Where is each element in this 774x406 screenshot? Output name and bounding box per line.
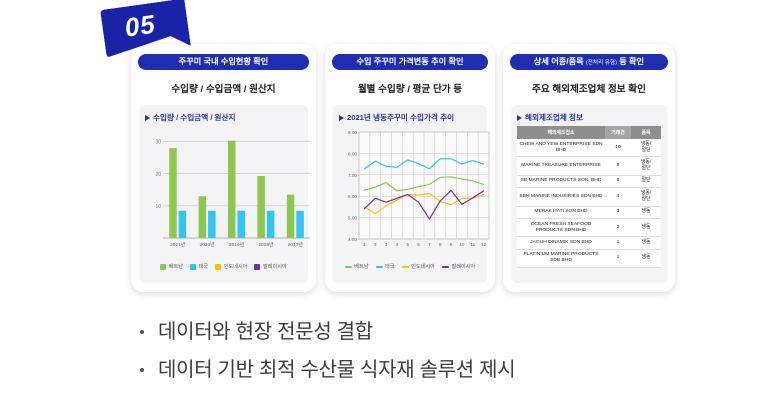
panel-b-body: 2021년 냉동주꾸미 수입가격 추이 4.005.006.007.008.00… [333, 105, 487, 283]
bullet-dot-icon [140, 330, 144, 334]
cell-manufacturer: SB MARINE PRODUCTS SON. BHD [517, 175, 605, 187]
svg-text:7: 7 [428, 242, 431, 247]
panel-manufacturers[interactable]: 상세 어종/품목 (전처리 유형) 등 확인 주요 해외제조업체 정보 확인 해… [503, 44, 675, 292]
panel-b-section-title-row: 2021년 냉동주꾸미 수입가격 추이 [339, 112, 481, 123]
svg-text:10: 10 [155, 204, 161, 210]
legend-label: 인도네시아 [224, 263, 248, 270]
panel-price-trend[interactable]: 수입 주꾸미 가격변동 추이 확인 월별 수입량 / 평균 단가 등 2021년… [325, 44, 495, 292]
cell-deal-count: 2 [605, 218, 631, 236]
svg-text:20: 20 [155, 172, 161, 178]
legend-swatch-icon [215, 264, 221, 270]
cell-item-type: 냉동 [631, 249, 661, 267]
panel-c-section-title: 해외제조업체 정보 [525, 112, 583, 123]
cell-item-type: 냉동/절단 [631, 188, 661, 206]
legend-item: 말레이시아 [442, 263, 475, 270]
cell-manufacturer: CHEW AND YEW ENTERPRISE SDN BHD [517, 139, 605, 157]
table-column-header: 해외제조업소 [517, 126, 605, 139]
panel-a-section-title-row: 수입량 / 수입금액 / 원산지 [145, 112, 302, 123]
legend-item: 인도네시아 [215, 263, 247, 270]
svg-text:5.00: 5.00 [348, 216, 357, 221]
panel-c-body: 해외제조업체 정보 해외제조업소거래건품목 CHEW AND YEW ENTER… [511, 105, 667, 283]
legend-swatch-icon [254, 264, 260, 270]
cell-deal-count: 1 [605, 237, 631, 249]
table-column-header: 품목 [631, 126, 661, 139]
bullet-item: 데이터 기반 최적 수산물 식자재 솔루션 제시 [140, 353, 515, 382]
table-row[interactable]: SB MARINE PRODUCTS SON. BHD6절단 [517, 175, 661, 187]
cell-deal-count: 3 [605, 206, 631, 218]
bullet-item: 데이터와 현장 전문성 결합 [140, 315, 515, 344]
svg-text:5: 5 [406, 242, 409, 247]
legend-label: 베트남 [354, 263, 368, 270]
cell-deal-count: 10 [605, 139, 631, 157]
svg-text:9: 9 [450, 242, 453, 247]
legend-label: 태국 [385, 263, 395, 270]
panel-c-badge-main: 상세 어종/품목 [534, 57, 584, 66]
slide-root: 05 주꾸미 국내 수입현황 확인 수입량 / 수입금액 / 원산지 수입량 /… [0, 0, 774, 406]
line-chart-price-trend: 4.005.006.007.008.009.00123456789101112 [339, 126, 493, 254]
legend-item: 인도네시아 [402, 263, 435, 270]
cell-item-type: 냉동 [631, 237, 661, 249]
table-row[interactable]: MERAK HATI SON BHD3냉동 [517, 206, 661, 218]
manufacturer-table[interactable]: 해외제조업소거래건품목 CHEW AND YEW ENTERPRISE SDN … [517, 126, 661, 268]
table-row[interactable]: MARINE TREASURE ENTERPRISE9냉동/절단 [517, 157, 661, 175]
svg-text:6: 6 [417, 242, 420, 247]
table-row[interactable]: PLATINIUM MARINE PRODUCTS SDB.BHD1냉동 [517, 249, 661, 267]
panel-c-subtitle: 주요 해외제조업체 정보 확인 [503, 70, 675, 105]
cell-manufacturer: OCEAN FRESH SEAFOOD PRODUCTS SDN.BHD [517, 218, 605, 236]
panel-b-badge: 수입 주꾸미 가격변동 추이 확인 [332, 54, 488, 70]
legend-line-icon [376, 266, 383, 268]
bar-chart-import-volume: 1020302021년2020년2019년2018년2017년 [145, 126, 314, 254]
cell-deal-count: 1 [605, 249, 631, 267]
svg-text:2017년: 2017년 [288, 241, 303, 248]
svg-text:2: 2 [374, 242, 377, 247]
panel-a-badge: 주꾸미 국내 수입현황 확인 [138, 54, 309, 70]
svg-text:2020년: 2020년 [200, 241, 215, 248]
panel-b-subtitle: 월별 수입량 / 평균 단가 등 [325, 70, 495, 105]
legend-item: 말레이시아 [254, 263, 286, 270]
svg-text:2018년: 2018년 [258, 241, 273, 248]
legend-line-icon [402, 266, 409, 268]
panel-c-badge: 상세 어종/품목 (전처리 유형) 등 확인 [510, 54, 668, 70]
cell-manufacturer: JAGUH DINAMIK SDN BHD [517, 237, 605, 249]
panel-c-badge-tail: 등 확인 [619, 57, 644, 66]
cell-manufacturer: MERAK HATI SON BHD [517, 206, 605, 218]
svg-text:2021년: 2021년 [170, 241, 185, 248]
svg-text:9.00: 9.00 [348, 130, 357, 135]
cell-manufacturer: SBH MARINE INDUSIRIES SDN BHD [517, 188, 605, 206]
table-header-row: 해외제조업소거래건품목 [517, 126, 661, 139]
line-chart-legend: 베트남태국인도네시아말레이시아 [339, 263, 481, 270]
cell-item-type: 냉동 [631, 218, 661, 236]
legend-swatch-icon [160, 264, 166, 270]
legend-label: 인도네시아 [411, 263, 435, 270]
panel-c-badge-sub: (전처리 유형) [586, 60, 617, 66]
legend-item: 태국 [190, 263, 208, 270]
table-row[interactable]: CHEW AND YEW ENTERPRISE SDN BHD10냉동/절단 [517, 139, 661, 157]
svg-text:3: 3 [385, 242, 388, 247]
table-row[interactable]: OCEAN FRESH SEAFOOD PRODUCTS SDN.BHD2냉동 [517, 218, 661, 236]
table-column-header: 거래건 [605, 126, 631, 139]
bullet-dot-icon [140, 368, 144, 372]
cell-item-type: 냉동 [631, 206, 661, 218]
svg-text:1: 1 [363, 242, 366, 247]
legend-item: 베트남 [345, 263, 369, 270]
bullet-text: 데이터 기반 최적 수산물 식자재 솔루션 제시 [158, 353, 515, 382]
cell-manufacturer: PLATINIUM MARINE PRODUCTS SDB.BHD [517, 249, 605, 267]
legend-line-icon [345, 266, 352, 268]
svg-text:8.00: 8.00 [348, 151, 357, 156]
cell-deal-count: 6 [605, 175, 631, 187]
legend-label: 말레이시아 [451, 263, 475, 270]
svg-text:4: 4 [396, 242, 399, 247]
table-row[interactable]: SBH MARINE INDUSIRIES SDN BHD4냉동/절단 [517, 188, 661, 206]
bar-chart-legend: 베트남태국인도네시아말레이시아 [145, 263, 302, 270]
panel-a-subtitle: 수입량 / 수입금액 / 원산지 [131, 70, 316, 105]
cell-item-type: 냉동/절단 [631, 139, 661, 157]
panel-a-body: 수입량 / 수입금액 / 원산지 1020302021년2020년2019년20… [139, 105, 308, 283]
triangle-right-icon [145, 115, 150, 121]
legend-label: 태국 [199, 263, 209, 270]
table-body: CHEW AND YEW ENTERPRISE SDN BHD10냉동/절단MA… [517, 139, 661, 268]
bullet-text: 데이터와 현장 전문성 결합 [158, 315, 373, 344]
triangle-right-icon [517, 115, 522, 121]
legend-swatch-icon [190, 264, 196, 270]
legend-line-icon [442, 266, 449, 268]
cell-deal-count: 4 [605, 188, 631, 206]
panel-import-status[interactable]: 주꾸미 국내 수입현황 확인 수입량 / 수입금액 / 원산지 수입량 / 수입… [131, 44, 316, 292]
svg-text:11: 11 [470, 242, 475, 247]
panel-b-section-title: 2021년 냉동주꾸미 수입가격 추이 [347, 112, 454, 123]
svg-text:30: 30 [155, 140, 161, 146]
legend-item: 베트남 [160, 263, 183, 270]
svg-text:12: 12 [481, 242, 487, 247]
cell-item-type: 절단 [631, 175, 661, 187]
cell-item-type: 냉동/절단 [631, 157, 661, 175]
panel-a-section-title: 수입량 / 수입금액 / 원산지 [153, 112, 236, 123]
svg-text:8: 8 [439, 242, 442, 247]
legend-label: 베트남 [169, 263, 183, 270]
svg-text:7.00: 7.00 [348, 173, 357, 178]
svg-text:6.00: 6.00 [348, 194, 357, 199]
step-number: 05 [123, 9, 158, 44]
triangle-right-icon [339, 115, 344, 121]
panel-c-section-title-row: 해외제조업체 정보 [517, 112, 661, 123]
svg-text:4.00: 4.00 [348, 237, 357, 242]
svg-text:2019년: 2019년 [229, 241, 244, 248]
legend-label: 말레이시아 [263, 263, 287, 270]
summary-bullets: 데이터와 현장 전문성 결합 데이터 기반 최적 수산물 식자재 솔루션 제시 [140, 315, 515, 391]
table-row[interactable]: JAGUH DINAMIK SDN BHD1냉동 [517, 237, 661, 249]
svg-text:10: 10 [459, 242, 465, 247]
legend-item: 태국 [376, 263, 395, 270]
cell-manufacturer: MARINE TREASURE ENTERPRISE [517, 157, 605, 175]
panel-group: 주꾸미 국내 수입현황 확인 수입량 / 수입금액 / 원산지 수입량 / 수입… [0, 44, 774, 299]
cell-deal-count: 9 [605, 157, 631, 175]
